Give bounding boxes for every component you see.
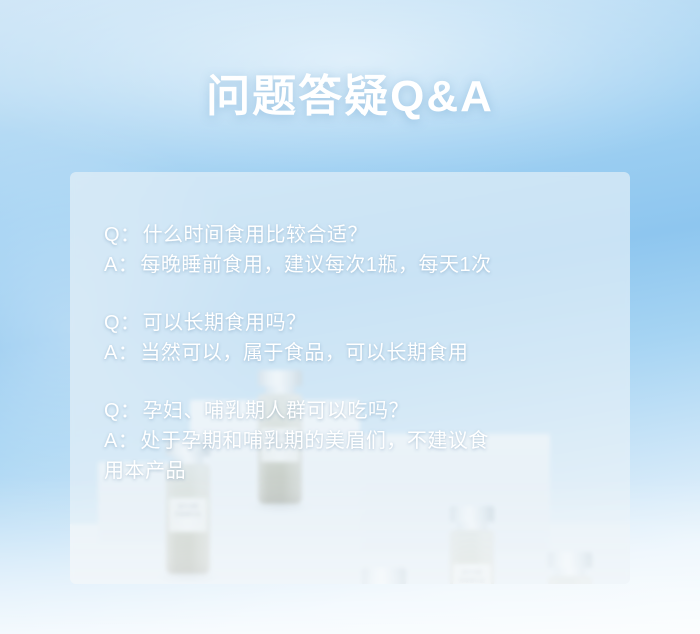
qa-question-tag: Q： xyxy=(104,220,141,250)
qa-question-tag: Q： xyxy=(104,308,141,338)
qa-question-row: Q： 孕妇、哺乳期人群可以吃吗？ xyxy=(104,396,596,426)
qa-question-tag: Q： xyxy=(104,396,141,426)
qa-answer-row: A： 每晚睡前食用，建议每次1瓶，每天1次 xyxy=(104,250,596,280)
qa-answer-row: A： 当然可以，属于食品，可以长期食用 xyxy=(104,338,596,368)
qa-question-text: 可以长期食用吗？ xyxy=(143,308,596,338)
qa-answer-text: 当然可以，属于食品，可以长期食用 xyxy=(140,338,596,368)
qa-answer-text-line2: 用本产品 xyxy=(104,456,596,486)
qa-answer-tag: A： xyxy=(104,338,138,368)
qa-answer-row: A： 处于孕期和哺乳期的美眉们，不建议食 xyxy=(104,426,596,456)
qa-answer-text: 每晚睡前食用，建议每次1瓶，每天1次 xyxy=(140,250,596,280)
qa-item-3: Q： 孕妇、哺乳期人群可以吃吗？ A： 处于孕期和哺乳期的美眉们，不建议食 用本… xyxy=(104,396,596,486)
qa-question-row: Q： 什么时间食用比较合适？ xyxy=(104,220,596,250)
qa-answer-text: 处于孕期和哺乳期的美眉们，不建议食 xyxy=(140,426,596,456)
qa-answer-tag: A： xyxy=(104,250,138,280)
qa-answer-tag: A： xyxy=(104,426,138,456)
qa-question-text: 什么时间食用比较合适？ xyxy=(143,220,596,250)
qa-question-row: Q： 可以长期食用吗？ xyxy=(104,308,596,338)
qa-item-1: Q： 什么时间食用比较合适？ A： 每晚睡前食用，建议每次1瓶，每天1次 xyxy=(104,220,596,280)
qa-answer-row-continued: 用本产品 xyxy=(104,456,596,486)
qa-item-2: Q： 可以长期食用吗？ A： 当然可以，属于食品，可以长期食用 xyxy=(104,308,596,368)
qa-card: Q： 什么时间食用比较合适？ A： 每晚睡前食用，建议每次1瓶，每天1次 Q： … xyxy=(70,172,630,584)
page-title: 问题答疑Q&A xyxy=(0,60,700,124)
qa-question-text: 孕妇、哺乳期人群可以吃吗？ xyxy=(143,396,596,426)
promo-page: 问题答疑Q&A 凌风洗颜 乳酸菌饮品 凌风洗颜 乳酸菌饮品 xyxy=(0,0,700,634)
